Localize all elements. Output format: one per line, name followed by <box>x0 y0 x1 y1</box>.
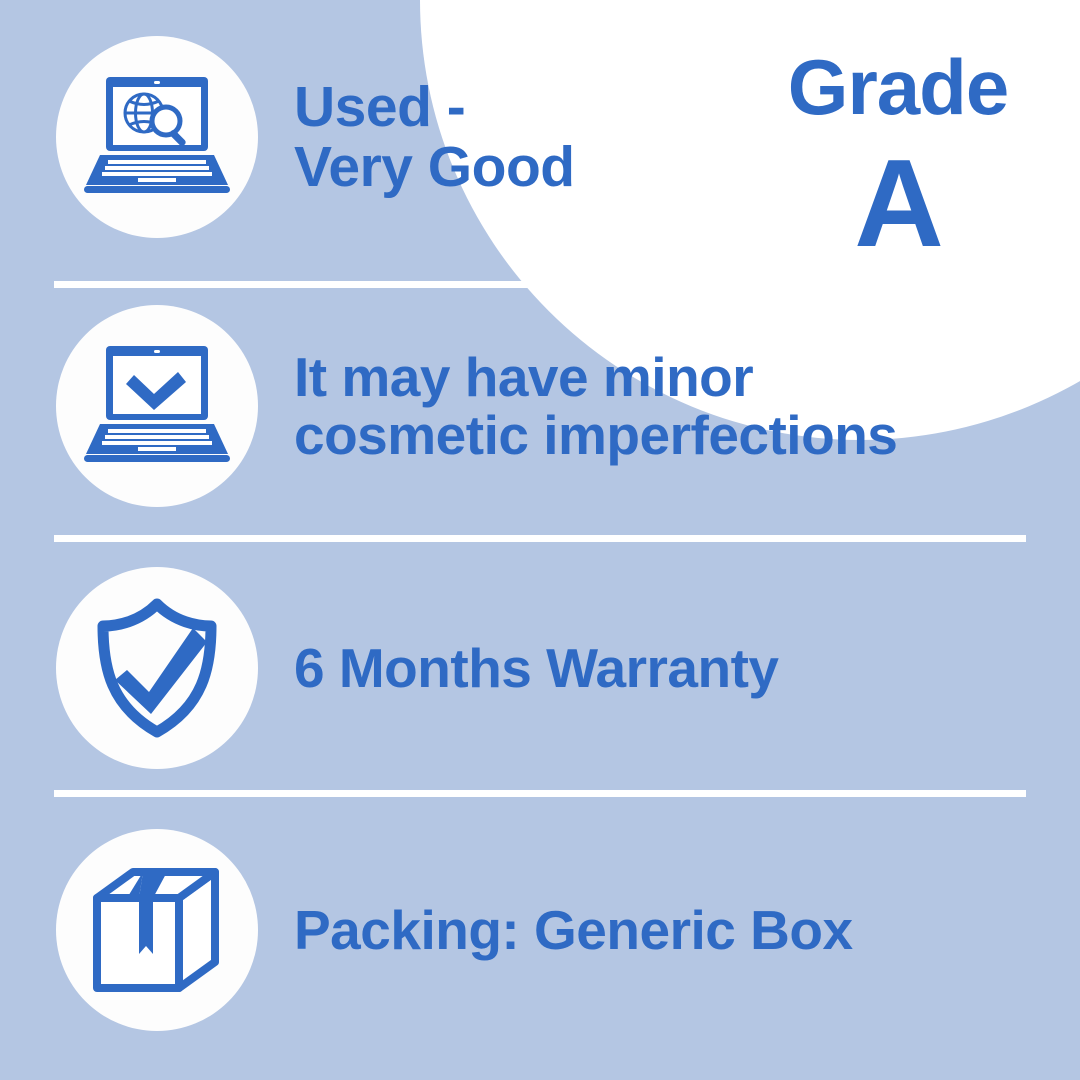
package-box-icon <box>56 829 258 1031</box>
feature-label-cosmetic: It may have minor cosmetic imperfections <box>294 348 897 465</box>
divider-line-1 <box>54 281 672 288</box>
feature-row-cosmetic: It may have minor cosmetic imperfections <box>0 305 1080 507</box>
feature-label-condition: Used - Very Good <box>294 77 575 198</box>
feature-row-warranty: 6 Months Warranty <box>0 567 1080 769</box>
shield-checkmark-icon <box>56 567 258 769</box>
feature-row-packing: Packing: Generic Box <box>0 829 1080 1031</box>
feature-label-packing: Packing: Generic Box <box>294 901 853 959</box>
grade-badge-word: Grade <box>778 48 1018 126</box>
divider-line-2 <box>54 535 1026 542</box>
divider-line-3 <box>54 790 1026 797</box>
grade-badge: Grade A <box>778 48 1018 266</box>
grade-badge-letter: A <box>778 142 1018 266</box>
laptop-globe-search-icon <box>56 36 258 238</box>
laptop-checkmark-icon <box>56 305 258 507</box>
feature-label-warranty: 6 Months Warranty <box>294 639 779 697</box>
